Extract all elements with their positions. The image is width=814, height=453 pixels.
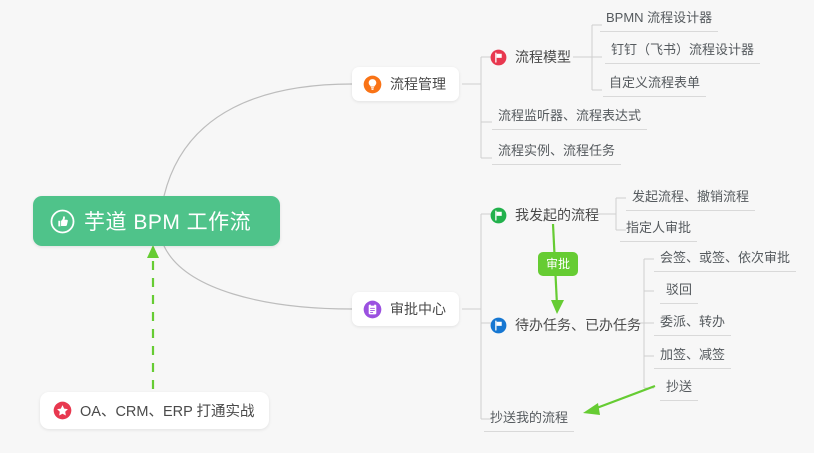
- cc-flow-arrow: [583, 386, 655, 415]
- callout-node-integration[interactable]: OA、CRM、ERP 打通实战: [40, 392, 269, 429]
- flag-icon: [490, 317, 507, 334]
- leaf-reject[interactable]: 驳回: [660, 281, 698, 304]
- node-label-my-initiated-processes: 我发起的流程: [515, 205, 599, 225]
- leaf-countersign-orsign-sequential[interactable]: 会签、或签、依次审批: [654, 249, 796, 272]
- leaf-process-listener-expression[interactable]: 流程监听器、流程表达式: [492, 107, 647, 130]
- thumbs-up-icon: [50, 209, 75, 234]
- branch-node-approval-center[interactable]: 审批中心: [352, 292, 459, 326]
- leaf-delegate-transfer[interactable]: 委派、转办: [654, 313, 731, 336]
- branch-label-process-management: 流程管理: [390, 74, 446, 94]
- leaf-cc[interactable]: 抄送: [660, 378, 698, 401]
- branch-node-process-management[interactable]: 流程管理: [352, 67, 459, 101]
- node-label-todo-done-tasks: 待办任务、已办任务: [515, 315, 641, 335]
- leaf-process-instance-task[interactable]: 流程实例、流程任务: [492, 142, 621, 165]
- lightbulb-icon: [363, 75, 382, 94]
- approval-flow-chip: 审批: [538, 252, 578, 276]
- node-label-process-model: 流程模型: [515, 47, 571, 67]
- root-node[interactable]: 芋道 BPM 工作流: [33, 196, 280, 246]
- leaf-dingtalk-feishu-designer[interactable]: 钉钉（飞书）流程设计器: [605, 41, 760, 64]
- node-process-model[interactable]: 流程模型: [490, 40, 584, 74]
- leaf-add-remove-sign[interactable]: 加签、减签: [654, 346, 731, 369]
- flag-icon: [490, 207, 507, 224]
- root-label: 芋道 BPM 工作流: [84, 206, 251, 236]
- leaf-bpmn-designer[interactable]: BPMN 流程设计器: [600, 9, 718, 32]
- mindmap-canvas: 芋道 BPM 工作流 流程管理 流程模型 BPMN 流程设计器 钉钉（飞书）流程…: [0, 0, 814, 453]
- leaf-assignee-approval[interactable]: 指定人审批: [620, 219, 697, 242]
- branch-label-approval-center: 审批中心: [390, 299, 446, 319]
- star-icon: [53, 401, 72, 420]
- node-todo-done-tasks[interactable]: 待办任务、已办任务: [490, 308, 654, 342]
- flag-icon: [490, 49, 507, 66]
- leaf-custom-process-form[interactable]: 自定义流程表单: [603, 74, 706, 97]
- integration-arrow: [147, 245, 159, 389]
- clipboard-icon: [363, 300, 382, 319]
- callout-label-integration: OA、CRM、ERP 打通实战: [80, 400, 255, 421]
- node-my-initiated-processes[interactable]: 我发起的流程: [490, 198, 612, 232]
- leaf-start-cancel-process[interactable]: 发起流程、撤销流程: [626, 188, 755, 211]
- leaf-cc-to-me-processes[interactable]: 抄送我的流程: [484, 409, 574, 432]
